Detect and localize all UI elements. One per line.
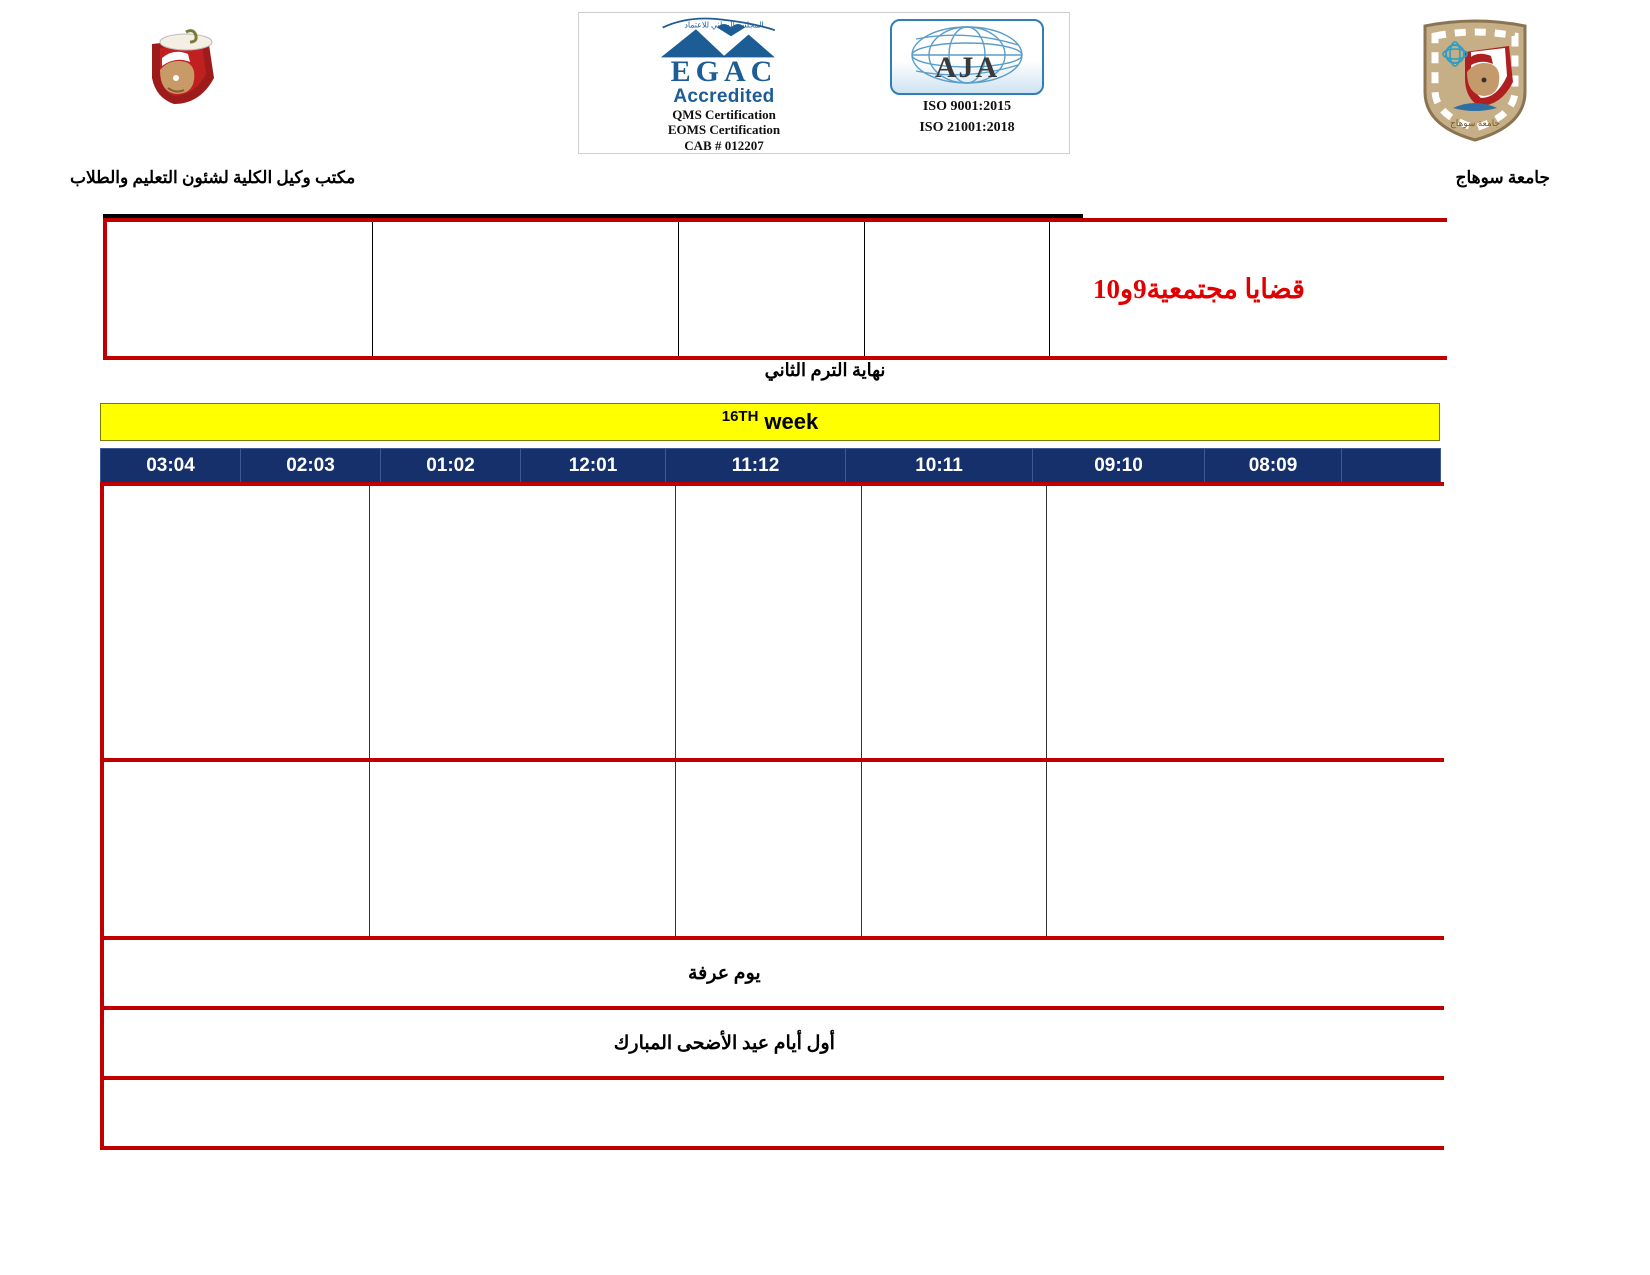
- aja-certification-logo: AJA ISO 9001:2015 ISO 21001:2018: [869, 13, 1065, 153]
- table-row-tuesday: أول أيام عيد الأضحى المبارك الثلاثاء 5/2…: [104, 1008, 1444, 1078]
- holiday-text-eid-day1[interactable]: أول أيام عيد الأضحى المبارك: [104, 1008, 1345, 1078]
- cell-empty-3[interactable]: [679, 222, 865, 356]
- egac-accredited-label: Accredited: [673, 87, 774, 107]
- holiday-text-eid-day2[interactable]: عيد الاضحى 2: [104, 1078, 1345, 1148]
- week-word: week: [764, 409, 818, 435]
- day-date: 5/24: [1346, 798, 1443, 828]
- day-name: الاثنين: [1346, 943, 1443, 973]
- cell-sat-1[interactable]: [104, 484, 370, 760]
- egac-wordmark: EGAC: [671, 57, 778, 87]
- day-name: الأربعاء: [1346, 1083, 1443, 1113]
- course-name: Micro: [1346, 890, 1443, 920]
- day-date: 5/21: [1349, 289, 1446, 319]
- thursday-block: قضايا مجتمعية9و10 الخميس 5/21: [103, 218, 1447, 360]
- cell-sat-4[interactable]: [861, 484, 1047, 760]
- cell-sun-5[interactable]: [1047, 760, 1345, 938]
- cell-sat-5[interactable]: [1047, 484, 1345, 760]
- day-name: الخميس: [1349, 259, 1446, 289]
- egac-line-2: EOMS Certification: [668, 122, 780, 137]
- time-header-corner: [1342, 449, 1441, 484]
- day-label-wednesday: الأربعاء 5/27: [1345, 1078, 1444, 1148]
- cell-empty-1[interactable]: [107, 222, 373, 356]
- table-row: قضايا مجتمعية9و10 الخميس 5/21: [107, 222, 1447, 356]
- time-header-0910: 09:10: [1033, 449, 1205, 484]
- day-label-monday: الاثنين 5/25: [1345, 938, 1444, 1008]
- course-code-line2: 105: [1346, 587, 1443, 617]
- course-code-line1: PRD-: [1346, 557, 1443, 587]
- table-row-sunday: الأحد 5/24 PRD- 105 Micro: [104, 760, 1444, 938]
- cell-sun-2[interactable]: [370, 760, 676, 938]
- table-row-monday: يوم عرفة الاثنين 5/25: [104, 938, 1444, 1008]
- day-name: الأحد: [1346, 768, 1443, 798]
- time-header-1011: 10:11: [846, 449, 1033, 484]
- day-label-saturday: السبت 5/23 PRD- 105 Micro: [1345, 484, 1444, 760]
- timetable-grid-body: السبت 5/23 PRD- 105 Micro الأحد 5/24 PRD…: [100, 482, 1444, 1150]
- egac-mountain-icon: المجلس الوطني للاعتماد: [634, 17, 814, 59]
- week-header-bar: 16TH week: [100, 403, 1440, 441]
- egac-accreditation-logo: المجلس الوطني للاعتماد EGAC Accredited Q…: [579, 13, 869, 153]
- course-code-line2: 105: [1346, 859, 1443, 889]
- day-label-tuesday: الثلاثاء 5/26: [1345, 1008, 1444, 1078]
- document-header: جامعة سوهاج كلية الطب المجلس الوطني للاع…: [0, 0, 1650, 200]
- day-name: الثلاثاء: [1346, 1013, 1443, 1043]
- aja-wordmark: AJA: [935, 51, 999, 85]
- time-header-1112: 11:12: [666, 449, 846, 484]
- timetable-table: السبت 5/23 PRD- 105 Micro الأحد 5/24 PRD…: [104, 482, 1444, 1150]
- week-ordinal: 16TH: [722, 408, 759, 425]
- sohag-faculty-of-medicine-logo: جامعة سوهاج كلية الطب: [90, 8, 250, 128]
- svg-text:جامعة سوهاج: جامعة سوهاج: [140, 16, 196, 27]
- cell-sat-2[interactable]: [370, 484, 676, 760]
- time-header-0203: 02:03: [241, 449, 381, 484]
- cell-event-community-issues[interactable]: قضايا مجتمعية9و10: [1050, 222, 1348, 356]
- accreditation-logos-box: المجلس الوطني للاعتماد EGAC Accredited Q…: [578, 12, 1070, 154]
- table-row-saturday: السبت 5/23 PRD- 105 Micro: [104, 484, 1444, 760]
- svg-text:كلية الطب: كلية الطب: [144, 107, 192, 119]
- day-date: 5/27: [1346, 1113, 1443, 1143]
- cell-empty-2[interactable]: [373, 222, 679, 356]
- day-date: 5/25: [1346, 973, 1443, 1003]
- cell-sun-3[interactable]: [676, 760, 862, 938]
- day-date: 5/23: [1346, 526, 1443, 556]
- aja-logo-frame: AJA: [890, 19, 1044, 95]
- university-label: جامعة سوهاج: [1455, 168, 1550, 188]
- term-end-note: نهاية الترم الثاني: [0, 360, 1650, 381]
- table-row-wednesday: عيد الاضحى 2 الأربعاء 5/27: [104, 1078, 1444, 1148]
- office-label: مكتب وكيل الكلية لشئون التعليم والطلاب: [70, 168, 355, 188]
- time-header-1201: 12:01: [521, 449, 666, 484]
- day-label-thursday: الخميس 5/21: [1348, 222, 1447, 356]
- holiday-text-arafah[interactable]: يوم عرفة: [104, 938, 1345, 1008]
- egac-line-3: CAB # 012207: [684, 138, 763, 153]
- aja-iso-line-2: ISO 21001:2018: [919, 120, 1014, 137]
- day-date: 5/26: [1346, 1043, 1443, 1073]
- course-code-line1: PRD-: [1346, 829, 1443, 859]
- thursday-table: قضايا مجتمعية9و10 الخميس 5/21: [107, 222, 1447, 356]
- course-name: Micro: [1346, 618, 1443, 648]
- cell-empty-4[interactable]: [864, 222, 1050, 356]
- cell-sun-1[interactable]: [104, 760, 370, 938]
- sohag-university-crest: جامعة سوهاج: [1405, 8, 1545, 148]
- day-name: السبت: [1346, 496, 1443, 526]
- time-header-0304: 03:04: [101, 449, 241, 484]
- time-header-0809: 08:09: [1205, 449, 1342, 484]
- egac-line-1: QMS Certification: [672, 107, 776, 122]
- time-header-row: 03:04 02:03 01:02 12:01 11:12 10:11 09:1…: [100, 448, 1440, 484]
- time-header-0102: 01:02: [381, 449, 521, 484]
- day-label-sunday: الأحد 5/24 PRD- 105 Micro: [1345, 760, 1444, 938]
- cell-sat-3[interactable]: [676, 484, 862, 760]
- cell-sun-4[interactable]: [861, 760, 1047, 938]
- svg-text:جامعة سوهاج: جامعة سوهاج: [1450, 118, 1500, 129]
- aja-iso-line-1: ISO 9001:2015: [923, 99, 1011, 116]
- time-header-table: 03:04 02:03 01:02 12:01 11:12 10:11 09:1…: [100, 448, 1441, 484]
